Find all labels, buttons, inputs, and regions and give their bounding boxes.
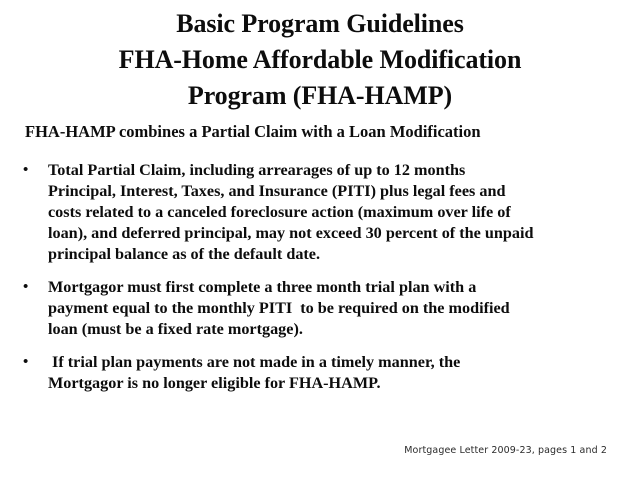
- footer-citation: Mortgagee Letter 2009-23, pages 1 and 2: [0, 444, 607, 458]
- title-line-1: Basic Program Guidelines: [0, 6, 640, 42]
- title-line-3: Program (FHA-HAMP): [0, 78, 640, 114]
- bullet-point-icon: •: [23, 277, 37, 298]
- list-item: • Mortgagor must first complete a three …: [18, 277, 618, 340]
- list-item: • If trial plan payments are not made in…: [18, 352, 618, 394]
- subtitle: FHA-HAMP combines a Partial Claim with a…: [25, 121, 615, 143]
- page-title: Basic Program Guidelines FHA-Home Afford…: [0, 6, 640, 114]
- bullet-point-icon: •: [23, 352, 37, 373]
- bullet-list: • Total Partial Claim, including arreara…: [18, 160, 618, 394]
- list-item-text: If trial plan payments are not made in a…: [48, 352, 618, 394]
- list-item-text: Mortgagor must first complete a three mo…: [48, 277, 618, 340]
- list-item: • Total Partial Claim, including arreara…: [18, 160, 618, 265]
- title-line-2: FHA-Home Affordable Modification: [0, 42, 640, 78]
- bullet-point-icon: •: [23, 160, 37, 181]
- slide-canvas: Basic Program Guidelines FHA-Home Afford…: [0, 0, 640, 480]
- list-item-text: Total Partial Claim, including arrearage…: [48, 160, 618, 265]
